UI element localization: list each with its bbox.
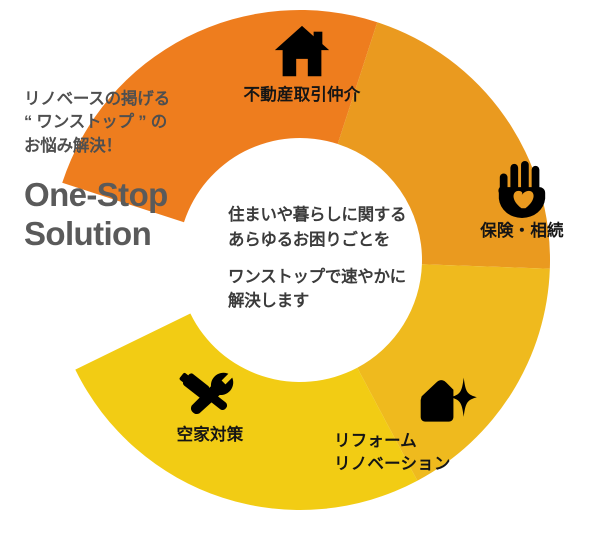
headline-line-1: One-Stop xyxy=(24,176,239,215)
segment-label-reform-renovation[interactable]: リフォーム リノベーション xyxy=(334,372,494,477)
lead-line-2: “ ワンストップ ” の xyxy=(24,111,239,134)
segment-label-text-reform: リフォーム xyxy=(334,430,494,453)
center-paragraph-two: ワンストップで速やかに 解決します xyxy=(228,265,458,315)
house-icon xyxy=(222,22,382,84)
hand-heart-icon xyxy=(460,158,584,220)
segment-label-vacant-house[interactable]: 空家対策 xyxy=(148,366,272,447)
center-paragraph-one: 住まいや暮らしに関する あらゆるお困りごとを xyxy=(228,203,458,253)
center-para-2-line-2: 解決します xyxy=(228,289,458,314)
segment-label-text-renovation: リノベーション xyxy=(334,453,494,476)
one-stop-solution-figure: リノベースの掲げる “ ワンストップ ” の お悩み解決！ One-Stop S… xyxy=(0,0,600,533)
headline-line-2: Solution xyxy=(24,215,239,254)
center-para-1-line-2: あらゆるお困りごとを xyxy=(228,228,458,253)
segment-label-text-real-estate: 不動産取引仲介 xyxy=(222,84,382,107)
house-sparkle-icon xyxy=(412,372,494,430)
segment-label-real-estate[interactable]: 不動産取引仲介 xyxy=(222,22,382,107)
center-para-2-line-1: ワンストップで速やかに xyxy=(228,265,458,290)
lead-line-3: お悩み解決！ xyxy=(24,135,239,158)
left-text-block: リノベースの掲げる “ ワンストップ ” の お悩み解決！ One-Stop S… xyxy=(24,88,239,254)
page-title: One-Stop Solution xyxy=(24,176,239,254)
hammer-wrench-icon xyxy=(148,366,272,424)
segment-label-insurance-inheritance[interactable]: 保険・相続 xyxy=(460,158,584,243)
center-text-block: 住まいや暮らしに関する あらゆるお困りごとを ワンストップで速やかに 解決します xyxy=(228,203,458,314)
center-para-1-line-1: 住まいや暮らしに関する xyxy=(228,203,458,228)
segment-label-text-insurance: 保険・相続 xyxy=(460,220,584,243)
lead-line-1: リノベースの掲げる xyxy=(24,88,239,111)
segment-label-text-vacant-house: 空家対策 xyxy=(148,424,272,447)
